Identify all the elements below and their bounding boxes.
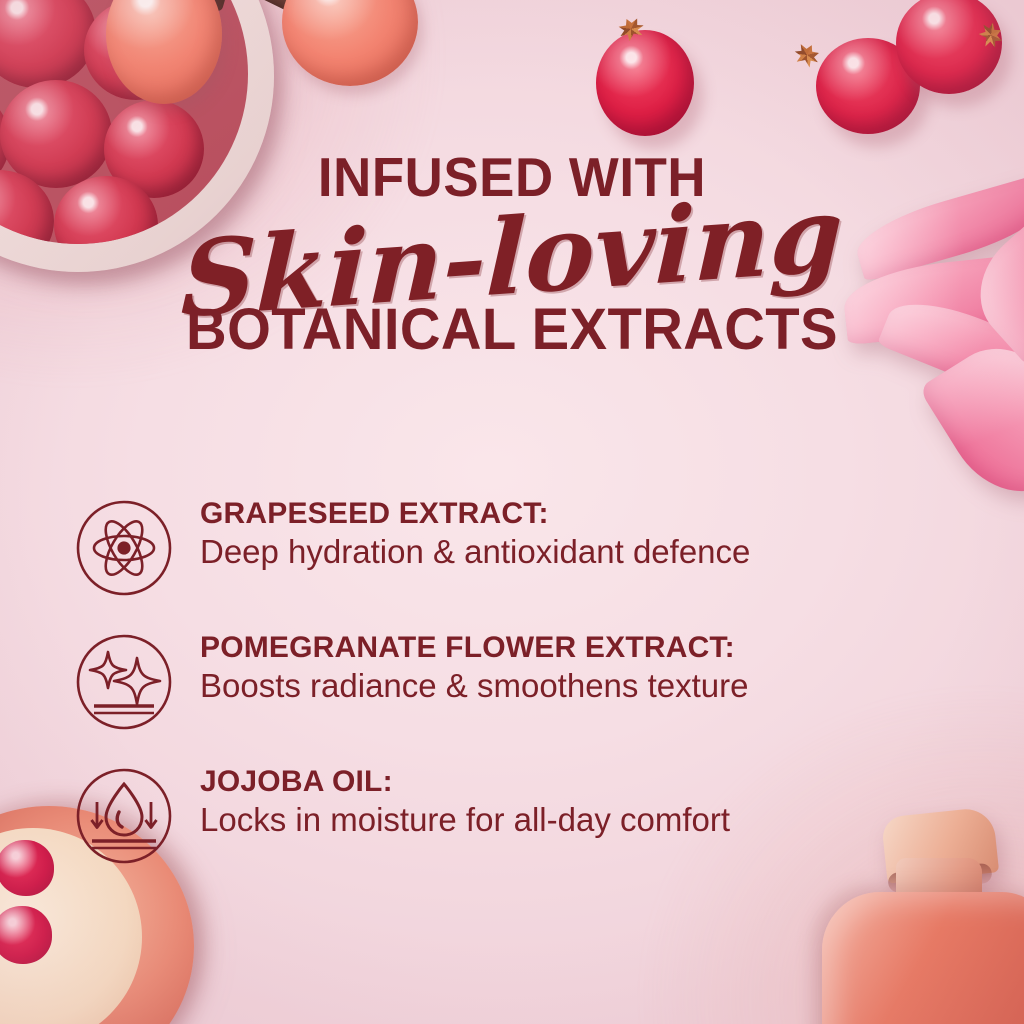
benefit-text: POMEGRANATE FLOWER EXTRACT: Boosts radia… — [200, 626, 748, 705]
benefit-item: POMEGRANATE FLOWER EXTRACT: Boosts radia… — [74, 626, 984, 732]
benefit-title: GRAPESEED EXTRACT: — [200, 498, 750, 530]
benefit-text: JOJOBA OIL: Locks in moisture for all-da… — [200, 760, 730, 839]
headline-block: INFUSED WITH Skin-loving BOTANICAL EXTRA… — [0, 150, 1024, 359]
atom-icon — [74, 498, 174, 598]
benefit-item: JOJOBA OIL: Locks in moisture for all-da… — [74, 760, 984, 866]
promo-graphic: INFUSED WITH Skin-loving BOTANICAL EXTRA… — [0, 0, 1024, 1024]
benefit-text: GRAPESEED EXTRACT: Deep hydration & anti… — [200, 492, 750, 571]
headline-line-2: BOTANICAL EXTRACTS — [15, 301, 1008, 359]
benefit-description: Boosts radiance & smoothens texture — [200, 668, 748, 705]
benefit-item: GRAPESEED EXTRACT: Deep hydration & anti… — [74, 492, 984, 598]
moisture-lock-icon — [74, 766, 174, 866]
benefit-title: POMEGRANATE FLOWER EXTRACT: — [200, 632, 748, 664]
benefit-title: JOJOBA OIL: — [200, 766, 730, 798]
benefit-description: Deep hydration & antioxidant defence — [200, 534, 750, 571]
benefit-description: Locks in moisture for all-day comfort — [200, 802, 730, 839]
sparkle-icon — [74, 632, 174, 732]
benefits-list: GRAPESEED EXTRACT: Deep hydration & anti… — [74, 492, 984, 894]
